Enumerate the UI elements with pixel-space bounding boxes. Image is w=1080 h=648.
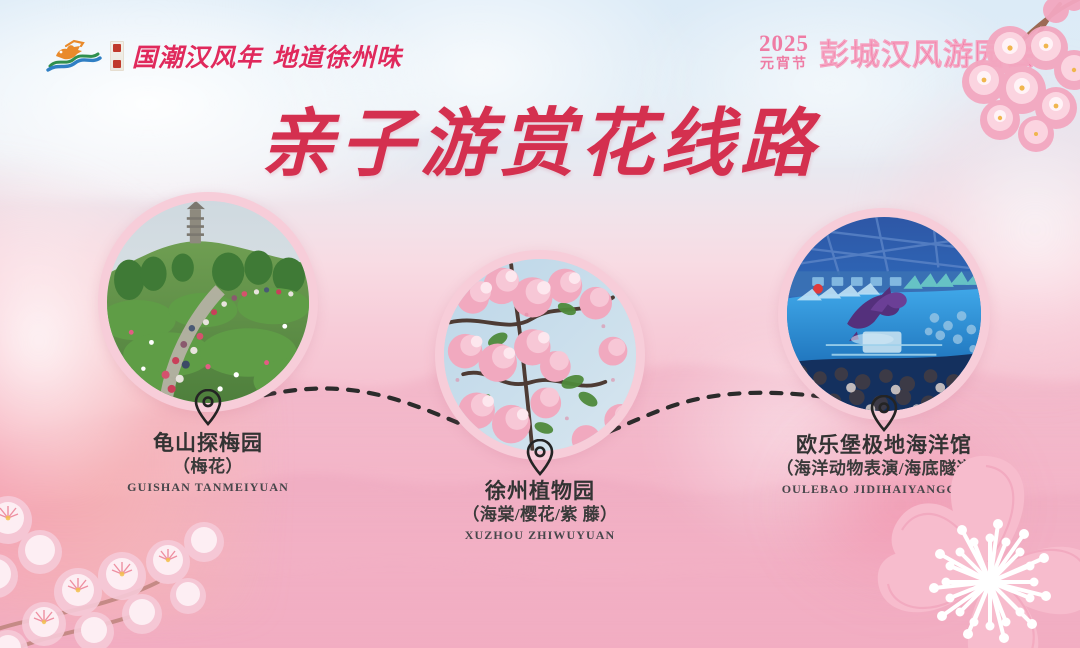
route-stop-oulebao[interactable]: 欧乐堡极地海洋馆 （海洋动物表演/海底隧道） OULEBAO JIDIHAIYA… — [778, 208, 990, 420]
photo-ring — [98, 192, 318, 412]
route-stop-zhiwuyuan[interactable]: 徐州植物园 （海棠/樱花/紫 藤） XUZHOU ZHIWUYUAN — [435, 250, 645, 460]
brand-slogan-2: 地道徐州味 — [272, 45, 402, 72]
lower-right-glow — [760, 390, 1040, 620]
photo-ring — [778, 208, 990, 420]
brand-slogan: 国潮汉风年地道徐州味 — [132, 38, 402, 74]
event-festival: 元宵节 — [760, 58, 808, 72]
poster-header: 国潮汉风年地道徐州味 2025 元宵节 彭城汉风游园会 — [0, 0, 1080, 100]
stop-label-oulebao: 欧乐堡极地海洋馆 （海洋动物表演/海底隧道） OULEBAO JIDIHAIYA… — [776, 432, 991, 497]
stop-pinyin: XUZHOU ZHIWUYUAN — [462, 528, 617, 543]
poster-canvas: 国潮汉风年地道徐州味 2025 元宵节 彭城汉风游园会 亲子游赏花线路 — [0, 0, 1080, 648]
right-event-logo: 2025 元宵节 彭城汉风游园会 — [759, 30, 1036, 74]
stop-photo-zhiwuyuan — [444, 259, 636, 451]
stop-flowers: （海棠/樱花/紫 藤） — [462, 504, 617, 526]
stop-photo-guishan — [107, 201, 309, 403]
map-pin-icon[interactable] — [193, 388, 223, 431]
left-brand-logo: 国潮汉风年地道徐州味 — [44, 36, 402, 76]
brand-slogan-1: 国潮汉风年 — [132, 45, 262, 72]
stop-name: 徐州植物园 — [462, 478, 617, 504]
event-name: 彭城汉风游园会 — [819, 30, 1036, 74]
map-pin-icon[interactable] — [869, 394, 899, 437]
stop-flowers: （海洋动物表演/海底隧道） — [776, 458, 991, 480]
stop-name: 欧乐堡极地海洋馆 — [776, 432, 991, 458]
stop-label-guishan: 龟山探梅园 （梅花） GUISHAN TANMEIYUAN — [127, 430, 289, 495]
event-date-block: 2025 元宵节 — [759, 32, 809, 72]
stop-photo-oulebao — [787, 217, 981, 411]
stop-label-zhiwuyuan: 徐州植物园 （海棠/樱花/紫 藤） XUZHOU ZHIWUYUAN — [462, 478, 617, 543]
xuzhou-culture-tourism-logo-icon — [44, 36, 102, 76]
stop-flowers: （梅花） — [127, 456, 289, 478]
stop-pinyin: GUISHAN TANMEIYUAN — [127, 480, 289, 495]
page-title: 亲子游赏花线路 — [0, 108, 1080, 182]
map-pin-icon[interactable] — [525, 438, 555, 481]
route-stop-guishan[interactable]: 龟山探梅园 （梅花） GUISHAN TANMEIYUAN — [98, 192, 318, 412]
stop-pinyin: OULEBAO JIDIHAIYANGGUAN — [776, 482, 991, 497]
seal-stamp-icon — [110, 41, 124, 71]
event-year: 2025 — [759, 32, 809, 55]
photo-ring — [435, 250, 645, 460]
stop-name: 龟山探梅园 — [127, 430, 289, 456]
